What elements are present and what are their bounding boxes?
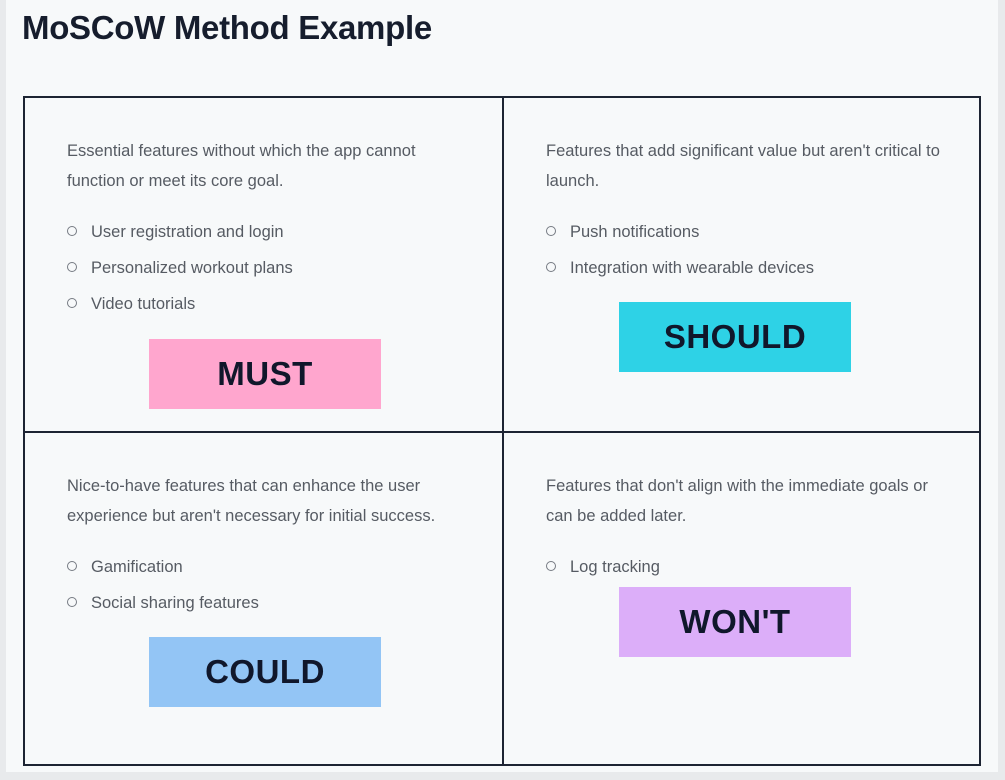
quadrant-should-list: Push notifications Integration with wear… (546, 214, 949, 286)
quadrant-could-description: Nice-to-have features that can enhance t… (67, 471, 467, 531)
list-item[interactable]: Social sharing features (67, 585, 472, 621)
circle-bullet-icon (67, 561, 77, 571)
badge-should: SHOULD (619, 302, 851, 372)
circle-bullet-icon (67, 226, 77, 236)
list-item-label: Log tracking (570, 558, 660, 576)
list-item[interactable]: User registration and login (67, 214, 472, 250)
circle-bullet-icon (67, 597, 77, 607)
moscow-matrix: Essential features without which the app… (23, 96, 981, 766)
list-item[interactable]: Log tracking (546, 549, 949, 585)
list-item-label: Video tutorials (91, 295, 195, 313)
list-item-label: Personalized workout plans (91, 259, 293, 277)
list-item[interactable]: Personalized workout plans (67, 250, 472, 286)
list-item-label: User registration and login (91, 223, 284, 241)
quadrant-must-list: User registration and login Personalized… (67, 214, 472, 322)
circle-bullet-icon (546, 262, 556, 272)
circle-bullet-icon (67, 298, 77, 308)
list-item[interactable]: Push notifications (546, 214, 949, 250)
quadrant-could: Nice-to-have features that can enhance t… (25, 431, 502, 764)
quadrant-must-description: Essential features without which the app… (67, 136, 467, 196)
circle-bullet-icon (546, 226, 556, 236)
list-item[interactable]: Gamification (67, 549, 472, 585)
badge-wont: WON'T (619, 587, 851, 657)
list-item-label: Integration with wearable devices (570, 259, 814, 277)
page-title: MoSCoW Method Example (22, 6, 432, 50)
quadrant-must: Essential features without which the app… (25, 98, 502, 431)
quadrant-could-list: Gamification Social sharing features (67, 549, 472, 621)
list-item-label: Gamification (91, 558, 183, 576)
list-item-label: Push notifications (570, 223, 699, 241)
circle-bullet-icon (67, 262, 77, 272)
list-item[interactable]: Integration with wearable devices (546, 250, 949, 286)
badge-could: COULD (149, 637, 381, 707)
quadrant-wont: Features that don't align with the immed… (502, 431, 979, 764)
list-item[interactable]: Video tutorials (67, 286, 472, 322)
quadrant-should-description: Features that add significant value but … (546, 136, 946, 196)
list-item-label: Social sharing features (91, 594, 259, 612)
page-canvas: MoSCoW Method Example Essential features… (6, 0, 998, 772)
circle-bullet-icon (546, 561, 556, 571)
quadrant-should: Features that add significant value but … (502, 98, 979, 431)
badge-must: MUST (149, 339, 381, 409)
quadrant-wont-description: Features that don't align with the immed… (546, 471, 946, 531)
quadrant-wont-list: Log tracking (546, 549, 949, 585)
